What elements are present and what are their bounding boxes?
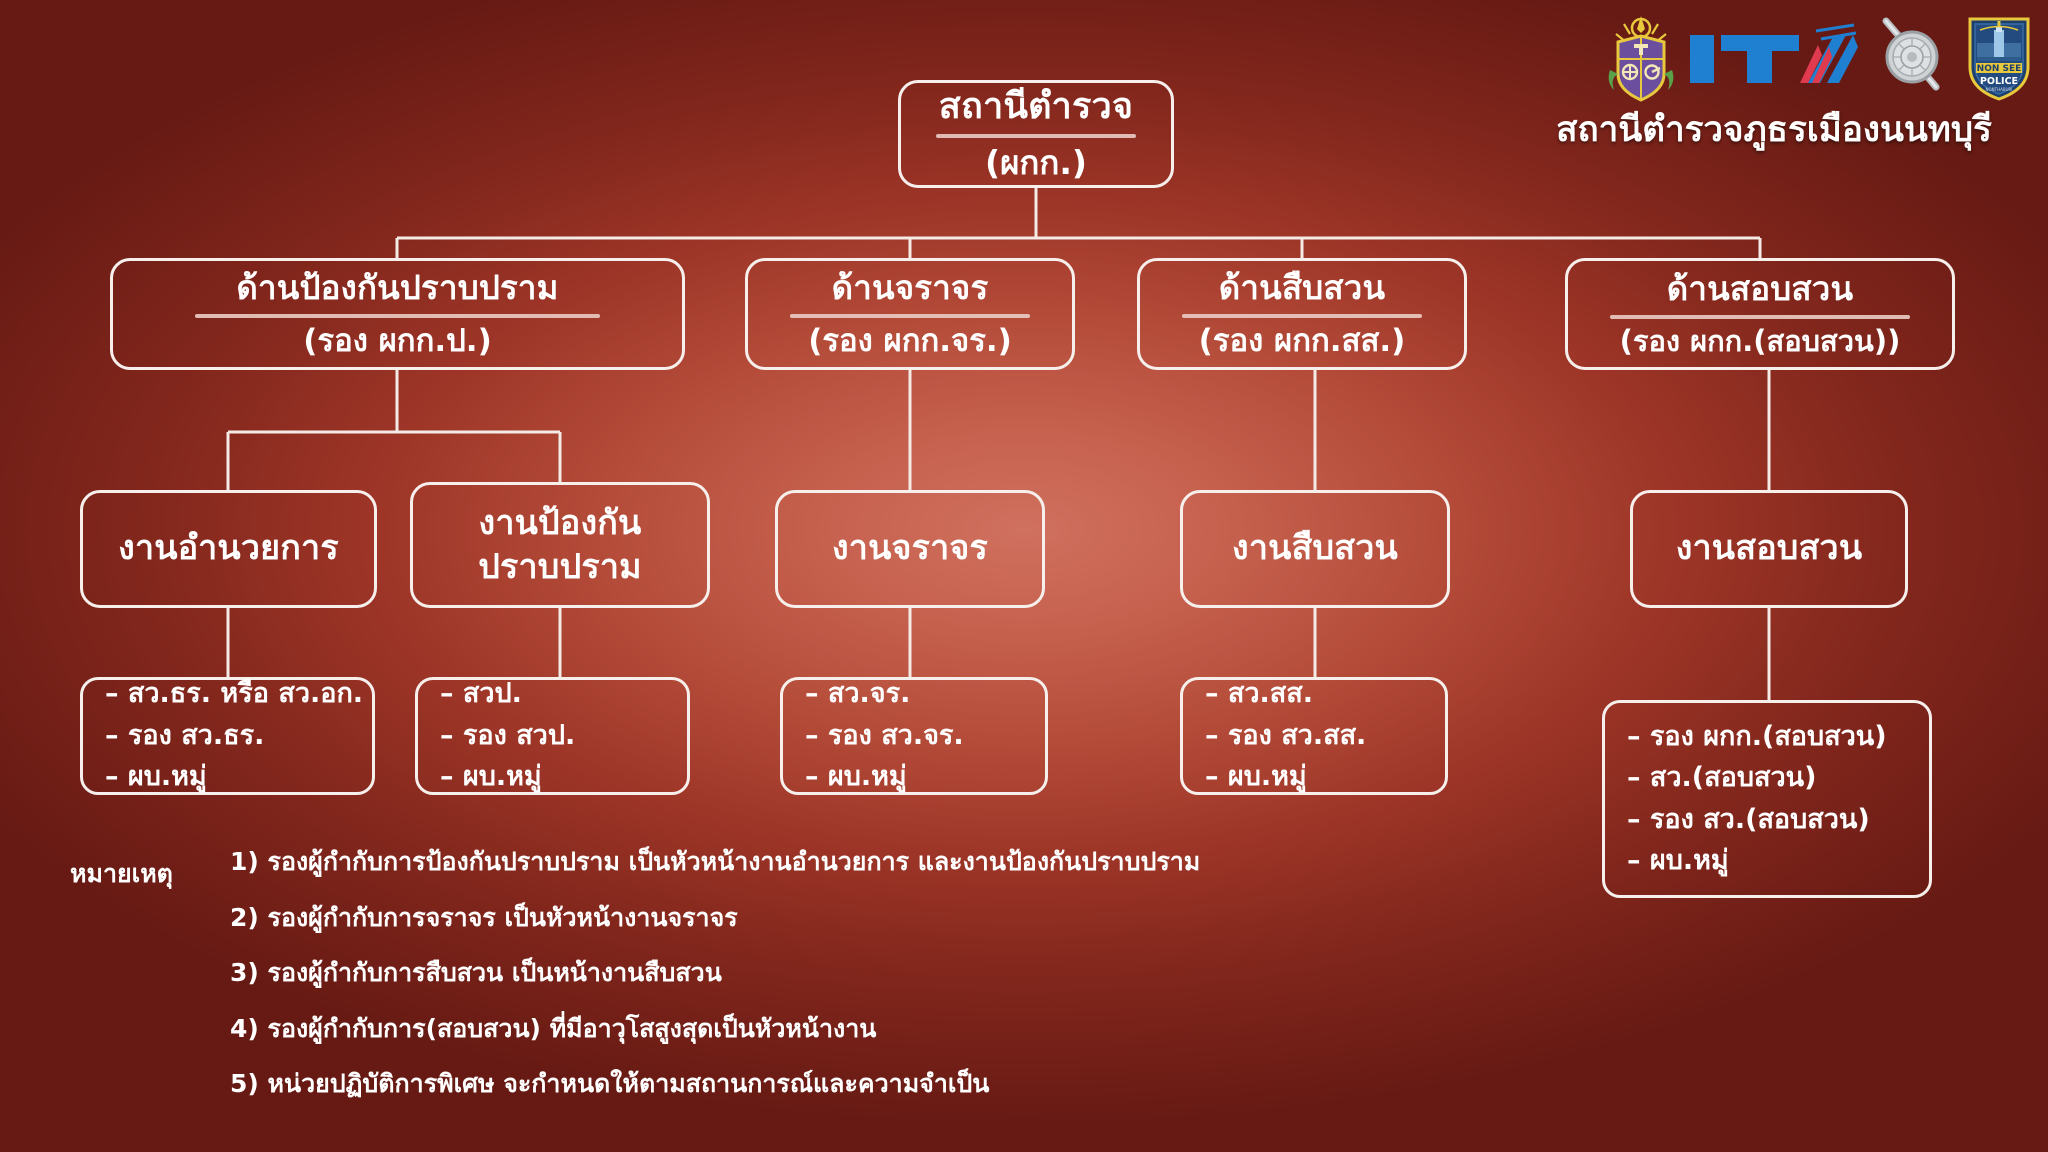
node-divider <box>195 314 600 318</box>
svg-text:POLICE: POLICE <box>1980 76 2018 87</box>
rank-item: – ผบ.หมู่ <box>1627 847 1909 875</box>
rank-item: – สวป. <box>440 680 667 708</box>
brand-header: NON SEE POLICE NONTHABURI สถานีตำรวจภูธร… <box>1514 6 2034 157</box>
node-inquiry-division[interactable]: ด้านสอบสวน (รอง ผกก.(สอบสวน)) <box>1565 258 1955 370</box>
rank-item: – รอง สว.(สอบสวน) <box>1627 806 1909 834</box>
svg-text:NONTHABURI: NONTHABURI <box>1986 87 2013 92</box>
node-title: ด้านสอบสวน <box>1667 270 1853 308</box>
node-title-line2: ปราบปราม <box>478 547 641 587</box>
node-investigation-division[interactable]: ด้านสืบสวน (รอง ผกก.สส.) <box>1137 258 1467 370</box>
rank-item: – ผบ.หมู่ <box>105 763 352 791</box>
notes-label: หมายเหตุ <box>70 854 173 894</box>
rank-item: – รอง สวป. <box>440 722 667 750</box>
note-item: 1) รองผู้กำกับการป้องกันปราบปราม เป็นหัว… <box>230 848 1470 876</box>
node-subtitle: (รอง ผกก.สส.) <box>1199 324 1406 360</box>
ranks-administration[interactable]: – สว.ธร. หรือ สว.อก. – รอง สว.ธร. – ผบ.ห… <box>80 677 375 795</box>
rank-item: – สว.ธร. หรือ สว.อก. <box>105 680 352 708</box>
node-investigation-work[interactable]: งานสืบสวน <box>1180 490 1450 608</box>
node-police-station[interactable]: สถานีตำรวจ (ผกก.) <box>898 80 1174 188</box>
rank-item: – สว.(สอบสวน) <box>1627 764 1909 792</box>
notes-list: 1) รองผู้กำกับการป้องกันปราบปราม เป็นหัว… <box>230 848 1470 1098</box>
note-item: 4) รองผู้กำกับการ(สอบสวน) ที่มีอาวุโสสูง… <box>230 1015 1470 1043</box>
rank-item: – รอง สว.จร. <box>805 722 1025 750</box>
node-traffic-division[interactable]: ด้านจราจร (รอง ผกก.จร.) <box>745 258 1075 370</box>
node-title: ด้านจราจร <box>832 269 989 307</box>
ita-wordmark-logo <box>1688 21 1858 95</box>
rank-item: – สว.จร. <box>805 680 1025 708</box>
node-title: ด้านป้องกันปราบปราม <box>236 269 558 307</box>
note-item: 2) รองผู้กำกับการจราจร เป็นหัวหน้างานจรา… <box>230 904 1470 932</box>
rank-item: – สว.สส. <box>1205 680 1425 708</box>
node-title-line1: งานป้องกัน <box>479 503 642 543</box>
nacc-emblem-logo <box>1604 12 1678 104</box>
ranks-prevention[interactable]: – สวป. – รอง สวป. – ผบ.หมู่ <box>415 677 690 795</box>
node-title: สถานีตำรวจ <box>939 86 1133 127</box>
node-traffic-work[interactable]: งานจราจร <box>775 490 1045 608</box>
node-divider <box>1610 315 1910 319</box>
rank-item: – รอง สว.ธร. <box>105 722 352 750</box>
node-divider <box>790 314 1030 318</box>
svg-text:NON SEE: NON SEE <box>1977 64 2022 74</box>
node-title: งานป้องกัน ปราบปราม <box>478 501 641 589</box>
note-item: 3) รองผู้กำกับการสืบสวน เป็นหน้างานสืบสว… <box>230 959 1470 987</box>
royal-thai-police-emblem-logo <box>1868 13 1954 103</box>
ranks-inquiry[interactable]: – รอง ผกก.(สอบสวน) – สว.(สอบสวน) – รอง ส… <box>1602 700 1932 898</box>
node-subtitle: (รอง ผกก.ป.) <box>303 324 491 360</box>
node-administration-work[interactable]: งานอำนวยการ <box>80 490 377 608</box>
rank-item: – ผบ.หมู่ <box>805 763 1025 791</box>
node-divider <box>1182 314 1422 318</box>
node-prevention-division[interactable]: ด้านป้องกันปราบปราม (รอง ผกก.ป.) <box>110 258 685 370</box>
node-divider <box>936 134 1136 138</box>
node-prevention-work[interactable]: งานป้องกัน ปราบปราม <box>410 482 710 608</box>
rank-item: – ผบ.หมู่ <box>440 763 667 791</box>
node-inquiry-work[interactable]: งานสอบสวน <box>1630 490 1908 608</box>
rank-item: – ผบ.หมู่ <box>1205 763 1425 791</box>
node-subtitle: (รอง ผกก.(สอบสวน)) <box>1620 325 1901 358</box>
node-title: งานอำนวยการ <box>118 529 339 568</box>
node-subtitle: (รอง ผกก.จร.) <box>808 324 1012 360</box>
node-title: ด้านสืบสวน <box>1219 269 1385 307</box>
non-see-police-badge-logo: NON SEE POLICE NONTHABURI <box>1964 13 2034 103</box>
note-item: 5) หน่วยปฏิบัติการพิเศษ จะกำหนดให้ตามสถา… <box>230 1070 1470 1098</box>
node-title: งานสอบสวน <box>1676 529 1863 568</box>
org-chart-slide: NON SEE POLICE NONTHABURI สถานีตำรวจภูธร… <box>0 0 2048 1152</box>
node-title: งานสืบสวน <box>1232 529 1398 568</box>
rank-item: – รอง สว.สส. <box>1205 722 1425 750</box>
ranks-traffic[interactable]: – สว.จร. – รอง สว.จร. – ผบ.หมู่ <box>780 677 1048 795</box>
node-subtitle: (ผกก.) <box>985 144 1087 182</box>
rank-item: – รอง ผกก.(สอบสวน) <box>1627 723 1909 751</box>
node-title: งานจราจร <box>832 529 988 568</box>
brand-title: สถานีตำรวจภูธรเมืองนนทบุรี <box>1556 102 1992 157</box>
logo-row: NON SEE POLICE NONTHABURI <box>1514 6 2034 110</box>
ranks-investigation[interactable]: – สว.สส. – รอง สว.สส. – ผบ.หมู่ <box>1180 677 1448 795</box>
notes-section: หมายเหตุ 1) รองผู้กำกับการป้องกันปราบปรา… <box>70 848 1470 1098</box>
